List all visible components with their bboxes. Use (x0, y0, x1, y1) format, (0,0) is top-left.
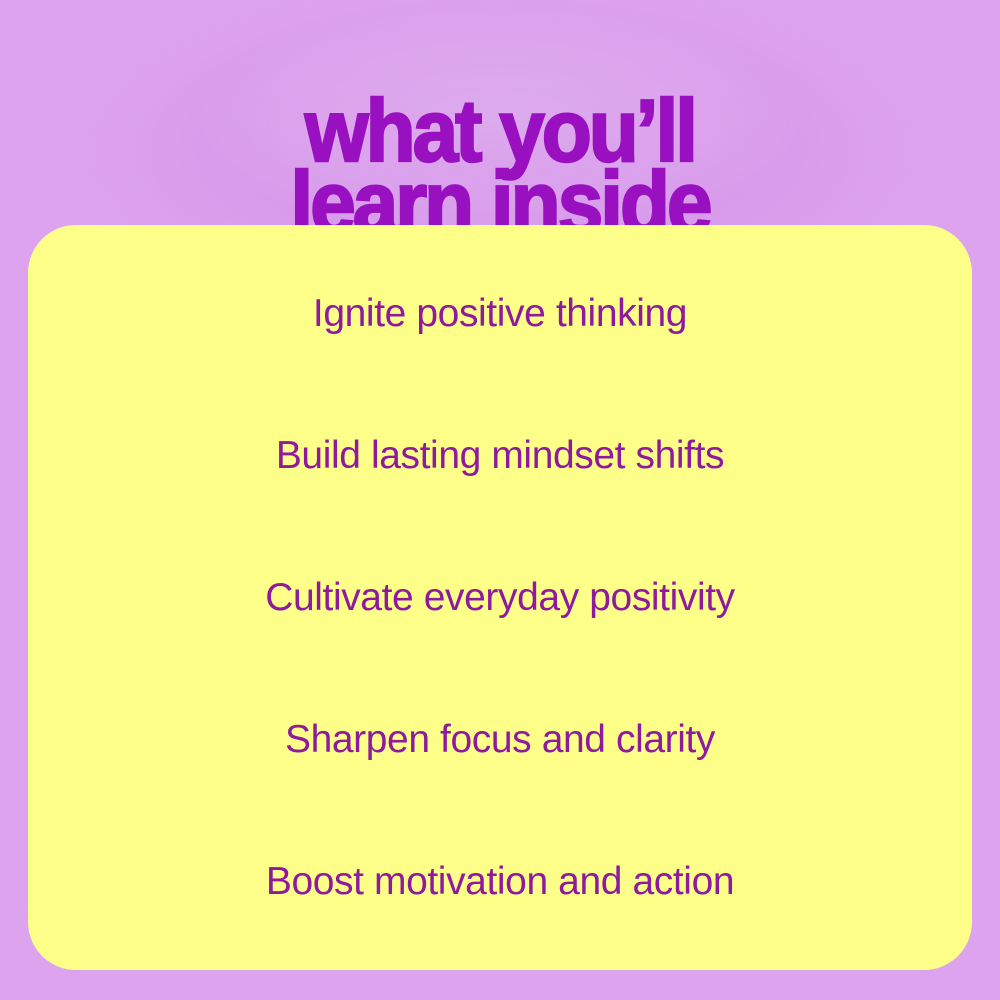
list-item: Build lasting mindset shifts (28, 385, 972, 527)
page-title: what you’ll learn inside (35, 95, 965, 239)
benefit-label: Boost motivation and action (266, 862, 734, 901)
list-item: Boost motivation and action (28, 811, 972, 953)
list-item: Cultivate everyday positivity (28, 527, 972, 669)
poster-canvas: what you’ll learn inside Ignite positive… (0, 0, 1000, 1000)
list-item: Ignite positive thinking (28, 243, 972, 385)
list-item: Sharpen focus and clarity (28, 669, 972, 811)
benefit-label: Cultivate everyday positivity (265, 578, 735, 617)
benefit-label: Build lasting mindset shifts (276, 436, 724, 475)
benefit-label: Sharpen focus and clarity (285, 720, 715, 759)
benefit-label: Ignite positive thinking (313, 294, 687, 333)
benefits-list: Ignite positive thinking Build lasting m… (28, 243, 972, 953)
benefits-card: Ignite positive thinking Build lasting m… (28, 225, 972, 970)
